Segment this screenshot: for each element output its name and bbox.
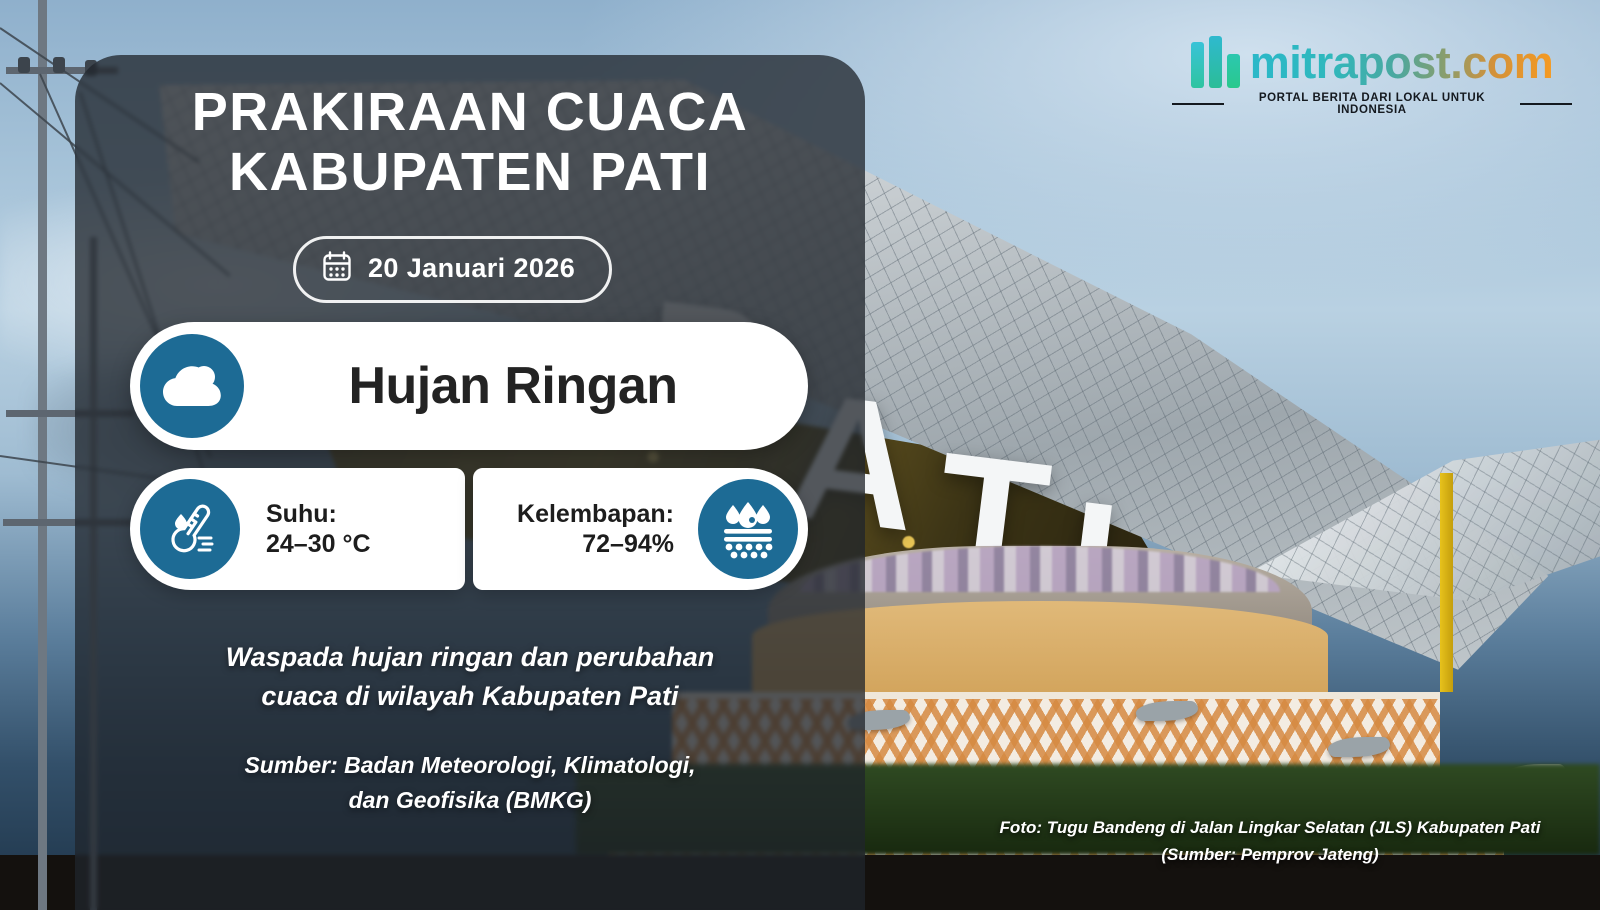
source-text: Sumber: Badan Meteorologi, Klimatologi, … (130, 748, 810, 817)
weather-condition-label: Hujan Ringan (244, 356, 808, 416)
caption-line-1: Foto: Tugu Bandeng di Jalan Lingkar Sela… (970, 814, 1570, 841)
logo-wordmark: mitrapost.com (1250, 40, 1554, 85)
humidity-label: Kelembapan: (473, 499, 674, 530)
humidity-icon (698, 479, 798, 579)
thermometer-icon (140, 479, 240, 579)
logo-tagline: PORTAL BERITA DARI LOKAL UNTUK INDONESIA (1234, 92, 1511, 116)
tagline-rule-left (1172, 103, 1224, 105)
date-badge: 20 Januari 2026 (293, 236, 612, 303)
forecast-date: 20 Januari 2026 (368, 253, 575, 284)
source-line-2: dan Geofisika (BMKG) (130, 783, 810, 818)
title-line-1: PRAKIRAAN CUACA (75, 82, 865, 142)
temperature-card: Suhu: 24–30 °C (130, 468, 465, 590)
caption-line-2: (Sumber: Pemprov Jateng) (970, 841, 1570, 868)
tagline-rule-right (1520, 103, 1572, 105)
advisory-line-2: cuaca di wilayah Kabupaten Pati (110, 677, 830, 716)
weather-condition-card: Hujan Ringan (130, 322, 808, 450)
temperature-value: 24–30 °C (266, 529, 465, 560)
temperature-text: Suhu: 24–30 °C (240, 499, 465, 560)
temperature-label: Suhu: (266, 499, 465, 530)
site-logo[interactable]: mitrapost.com PORTAL BERITA DARI LOKAL U… (1172, 36, 1572, 116)
weather-forecast-poster: P A T I (0, 0, 1600, 910)
logo-row: mitrapost.com (1172, 36, 1572, 88)
page-title: PRAKIRAAN CUACA KABUPATEN PATI (75, 82, 865, 203)
logo-tagline-row: PORTAL BERITA DARI LOKAL UNTUK INDONESIA (1172, 92, 1572, 116)
advisory-text: Waspada hujan ringan dan perubahan cuaca… (110, 638, 830, 716)
advisory-line-1: Waspada hujan ringan dan perubahan (110, 638, 830, 677)
humidity-card: Kelembapan: 72–94% (473, 468, 808, 590)
pole-insulator (18, 57, 30, 73)
cloud-icon (140, 334, 244, 438)
source-line-1: Sumber: Badan Meteorologi, Klimatologi, (130, 748, 810, 783)
metrics-row: Suhu: 24–30 °C (130, 468, 808, 590)
electric-pole (38, 0, 47, 910)
humidity-text: Kelembapan: 72–94% (473, 499, 698, 560)
photo-caption: Foto: Tugu Bandeng di Jalan Lingkar Sela… (970, 814, 1570, 868)
title-line-2: KABUPATEN PATI (75, 142, 865, 202)
bars-logo-icon (1191, 36, 1240, 88)
humidity-value: 72–94% (473, 529, 674, 560)
yellow-utility-pole (1440, 473, 1453, 691)
calendar-icon (322, 250, 352, 287)
